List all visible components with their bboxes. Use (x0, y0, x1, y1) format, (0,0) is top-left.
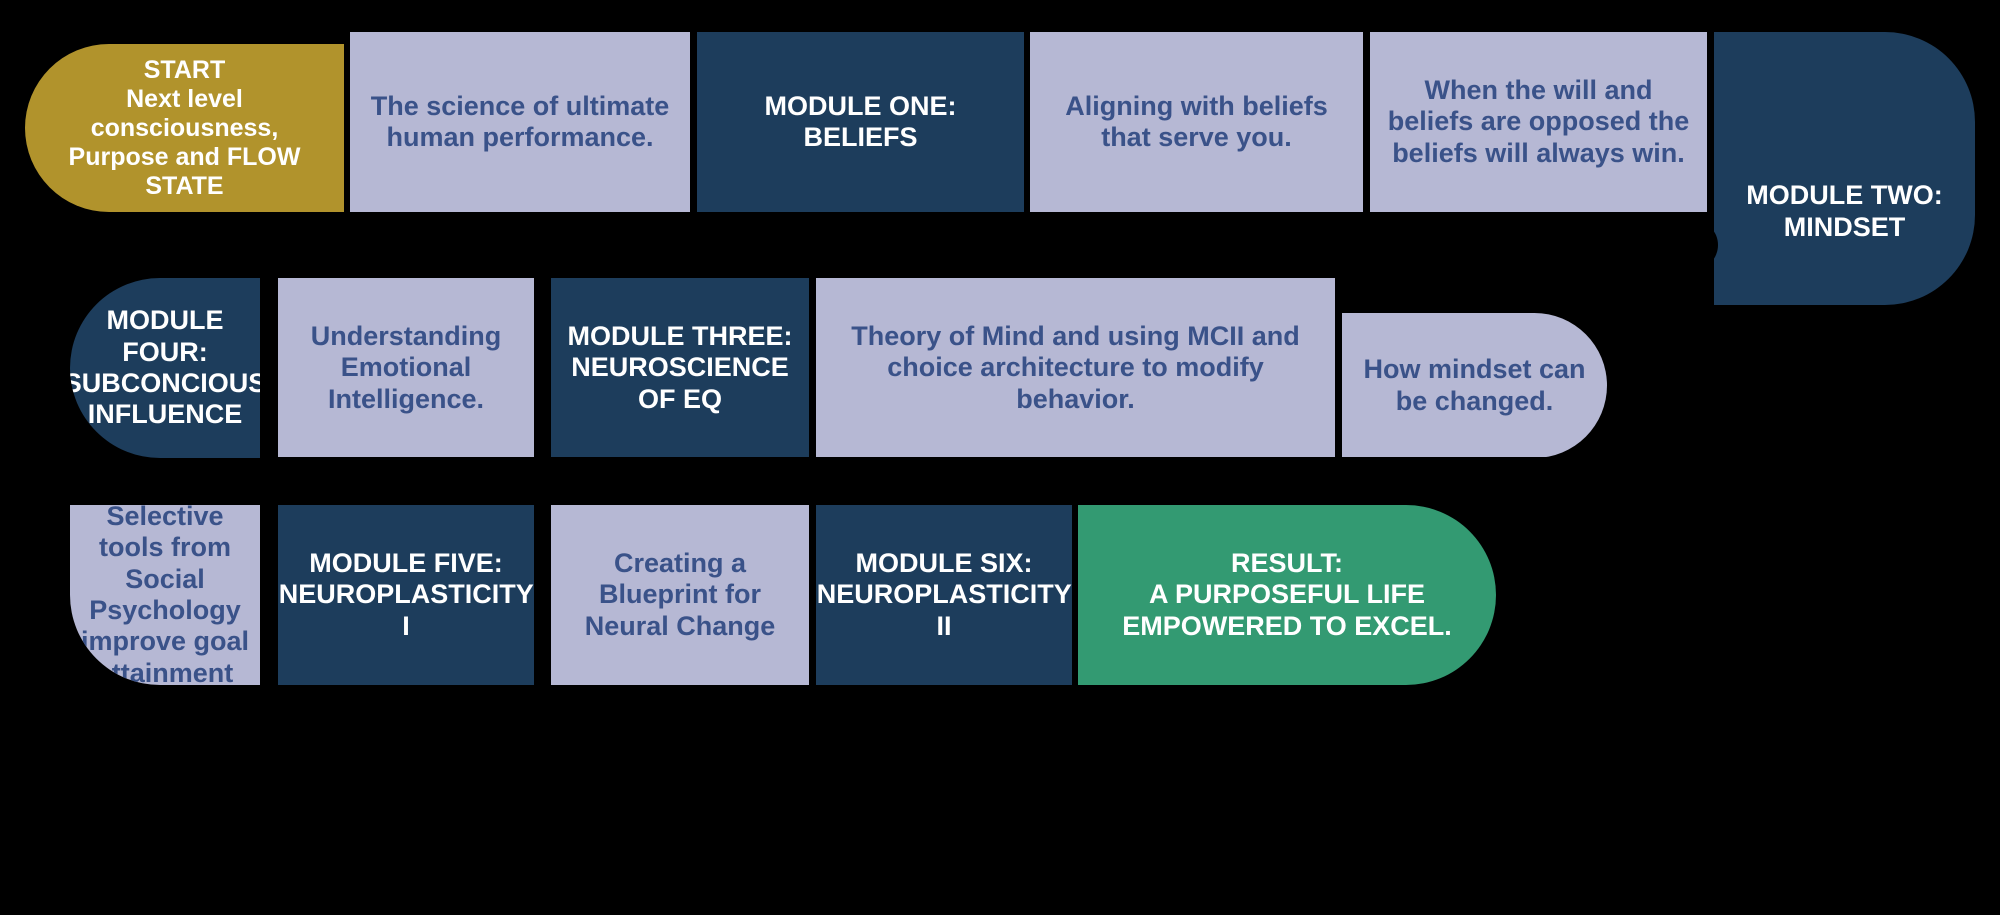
segment-detail-2[interactable]: Aligning with beliefs that serve you. (1030, 32, 1363, 212)
segment-module-one-label: MODULE ONE: BELIEFS (765, 91, 957, 154)
segment-detail-5[interactable]: Understanding Emotional Intelligence. (278, 278, 534, 458)
segment-result[interactable]: RESULT: A PURPOSEFUL LIFE EMPOWERED TO E… (1078, 505, 1496, 685)
segment-detail-3-label: When the will and beliefs are opposed th… (1380, 75, 1697, 169)
segment-module-five[interactable]: MODULE FIVE: NEUROPLASTICITY I (278, 505, 534, 685)
segment-detail-2-label: Aligning with beliefs that serve you. (1040, 91, 1353, 154)
segment-detail-3[interactable]: When the will and beliefs are opposed th… (1370, 32, 1707, 212)
segment-start-label: START Next level consciousness, Purpose … (35, 56, 334, 201)
track-notch-two (245, 457, 2000, 509)
segment-detail-6[interactable]: Theory of Mind and using MCII and choice… (816, 278, 1335, 458)
segment-detail-4-label: How mindset can be changed. (1352, 354, 1597, 417)
segment-detail-5-label: Understanding Emotional Intelligence. (288, 321, 524, 415)
segment-module-four-label: MODULE FOUR: SUBCONCIOUS INFLUENCE (70, 305, 260, 430)
segment-start[interactable]: START Next level consciousness, Purpose … (25, 44, 344, 212)
segment-module-one[interactable]: MODULE ONE: BELIEFS (697, 32, 1024, 212)
segment-detail-8-label: Creating a Blueprint for Neural Change (561, 548, 799, 642)
segment-module-three[interactable]: MODULE THREE: NEUROSCIENCE OF EQ (551, 278, 809, 458)
segment-module-five-label: MODULE FIVE: NEUROPLASTICITY I (279, 548, 534, 642)
segment-detail-4[interactable]: How mindset can be changed. (1342, 313, 1607, 458)
segment-detail-8[interactable]: Creating a Blueprint for Neural Change (551, 505, 809, 685)
segment-detail-7-label: Selective tools from Social Psychology i… (80, 505, 250, 685)
serpentine-roadmap-diagram: START Next level consciousness, Purpose … (0, 0, 2000, 915)
segment-module-four[interactable]: MODULE FOUR: SUBCONCIOUS INFLUENCE (70, 278, 260, 458)
segment-module-two[interactable]: MODULE TWO: MINDSET (1714, 32, 1975, 305)
segment-detail-1[interactable]: The science of ultimate human performanc… (350, 32, 690, 212)
segment-module-six[interactable]: MODULE SIX: NEUROPLASTICITY II (816, 505, 1072, 685)
track-notch-one (0, 220, 1718, 270)
segment-detail-1-label: The science of ultimate human performanc… (360, 91, 680, 154)
segment-module-six-label: MODULE SIX: NEUROPLASTICITY II (817, 548, 1072, 642)
segment-detail-6-label: Theory of Mind and using MCII and choice… (826, 321, 1325, 415)
segment-result-label: RESULT: A PURPOSEFUL LIFE EMPOWERED TO E… (1088, 548, 1486, 642)
segment-module-two-label: MODULE TWO: MINDSET (1746, 180, 1942, 243)
segment-module-three-label: MODULE THREE: NEUROSCIENCE OF EQ (561, 321, 799, 415)
segment-detail-7[interactable]: Selective tools from Social Psychology i… (70, 505, 260, 685)
